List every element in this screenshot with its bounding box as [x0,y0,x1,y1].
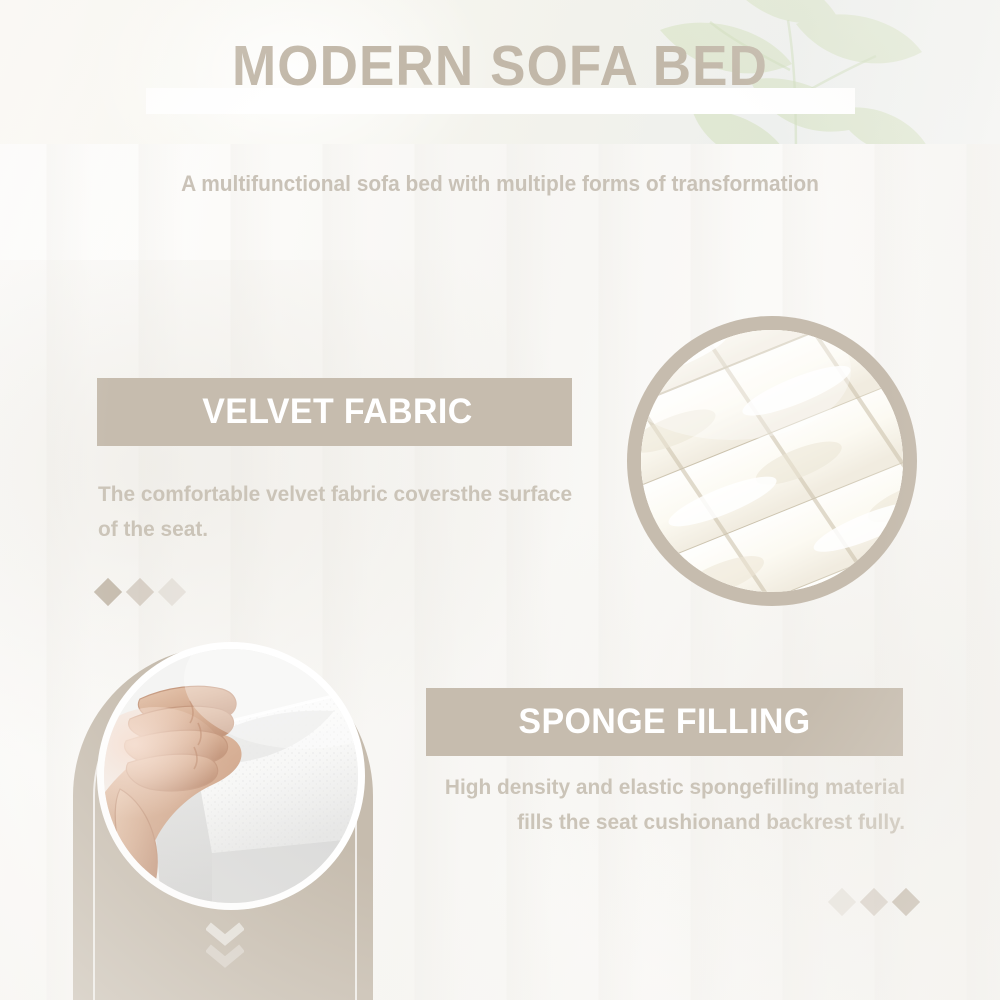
diamond-divider-left [98,582,182,602]
section-heading-sponge-label: SPONGE FILLING [433,702,896,742]
section-heading-sponge: SPONGE FILLING [426,688,903,756]
diamond-divider-right [832,892,916,912]
hand-pressing-foam-illustration [104,649,358,903]
page-title: MODERN SOFA BED [35,36,965,96]
velvet-fabric-photo [641,330,903,592]
sponge-photo-frame [97,642,365,910]
page-subtitle: A multifunctional sofa bed with multiple… [168,168,833,199]
diamond-icon [828,888,856,916]
quilted-fabric-illustration [641,330,903,592]
section-body-velvet: The comfortable velvet fabric coversthe … [98,477,588,547]
diamond-icon [94,578,122,606]
section-body-sponge: High density and elastic spongefilling m… [444,770,905,840]
header-banner: MODERN SOFA BED [0,0,1000,144]
velvet-fabric-photo-frame [627,316,917,606]
diamond-icon [126,578,154,606]
section-heading-velvet-label: VELVET FABRIC [104,392,565,432]
sponge-photo [104,649,358,903]
section-heading-velvet: VELVET FABRIC [97,378,572,446]
chevron-down-icon [206,922,244,970]
diamond-icon [158,578,186,606]
infographic-page: MODERN SOFA BED A multifunctional sofa b… [0,0,1000,1000]
diamond-icon [860,888,888,916]
diamond-icon [892,888,920,916]
